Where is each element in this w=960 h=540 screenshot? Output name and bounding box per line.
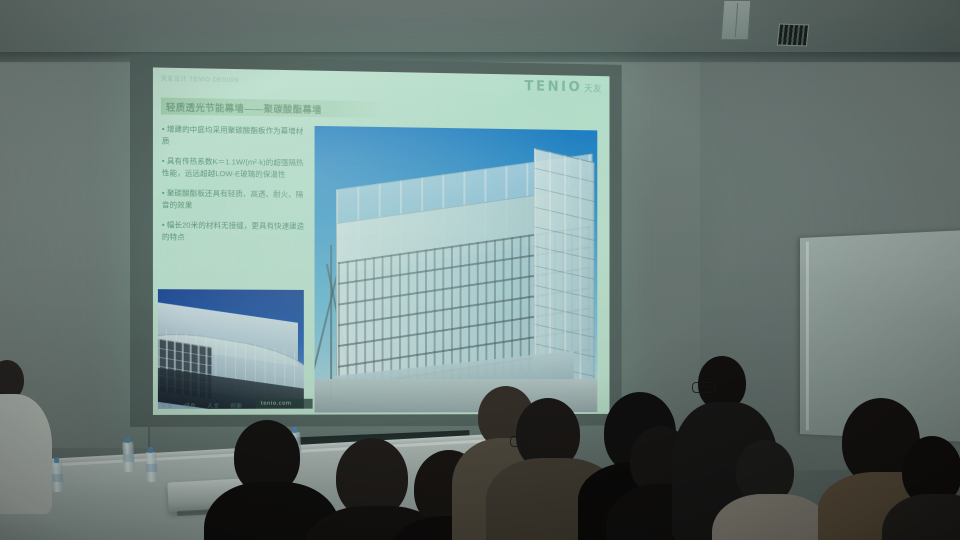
screenshot-root: 天友设计 TENIO DESIGN TENIO 天友 轻质透光节能幕墙——聚碳酸… [0,0,960,540]
bullet-item: • 聚碳酸酯板还具有轻质、高透、耐火、隔音的效果 [162,188,310,213]
water-bottle [122,442,135,473]
footer-keyword: 天友 [161,401,173,409]
ceiling-light-icon [721,0,752,40]
slide-eyebrow: 天友设计 TENIO DESIGN [161,74,239,84]
footer-keyword: 人文 [207,401,219,409]
footer-url: tenio.com [256,399,313,409]
ceiling [0,0,960,62]
water-bottle [51,462,64,493]
brand-chinese: 天友 [584,82,602,96]
footer-keyword: 创新 [230,401,242,409]
footer-keywords: 天友 绿色 人文 创新 [161,401,243,409]
slide: 天友设计 TENIO DESIGN TENIO 天友 轻质透光节能幕墙——聚碳酸… [153,67,610,415]
water-bottle [145,452,158,483]
slide-image-building-exterior [315,126,598,413]
tenio-logo: TENIO 天友 [524,79,601,96]
projection-screen: 天友设计 TENIO DESIGN TENIO 天友 轻质透光节能幕墙——聚碳酸… [130,55,622,427]
eyeglasses-icon [510,436,538,447]
bullet-item: • 增建的中庭均采用聚碳酸酯板作为幕墙材质 [162,124,310,149]
slide-bullet-list: • 增建的中庭均采用聚碳酸酯板作为幕墙材质 • 具有传热系数K＝1.1W/(m²… [162,124,310,253]
air-vent-icon [777,23,809,46]
slide-title: 轻质透光节能幕墙——聚碳酸酯幕墙 [166,99,322,116]
bullet-item: • 幅长20米的材料无接缝，更具有快速建造的特点 [162,220,310,244]
slide-title-bar: 轻质透光节能幕墙——聚碳酸酯幕墙 [161,98,381,119]
slide-image-atrium-model [158,289,304,409]
footer-keyword: 绿色 [184,401,196,409]
bullet-item: • 具有传热系数K＝1.1W/(m²·k)的超强隔热性能，远远超越LOW-E玻璃… [162,156,310,181]
brand-mark: TENIO [524,79,582,96]
eyeglasses-icon [692,382,716,393]
